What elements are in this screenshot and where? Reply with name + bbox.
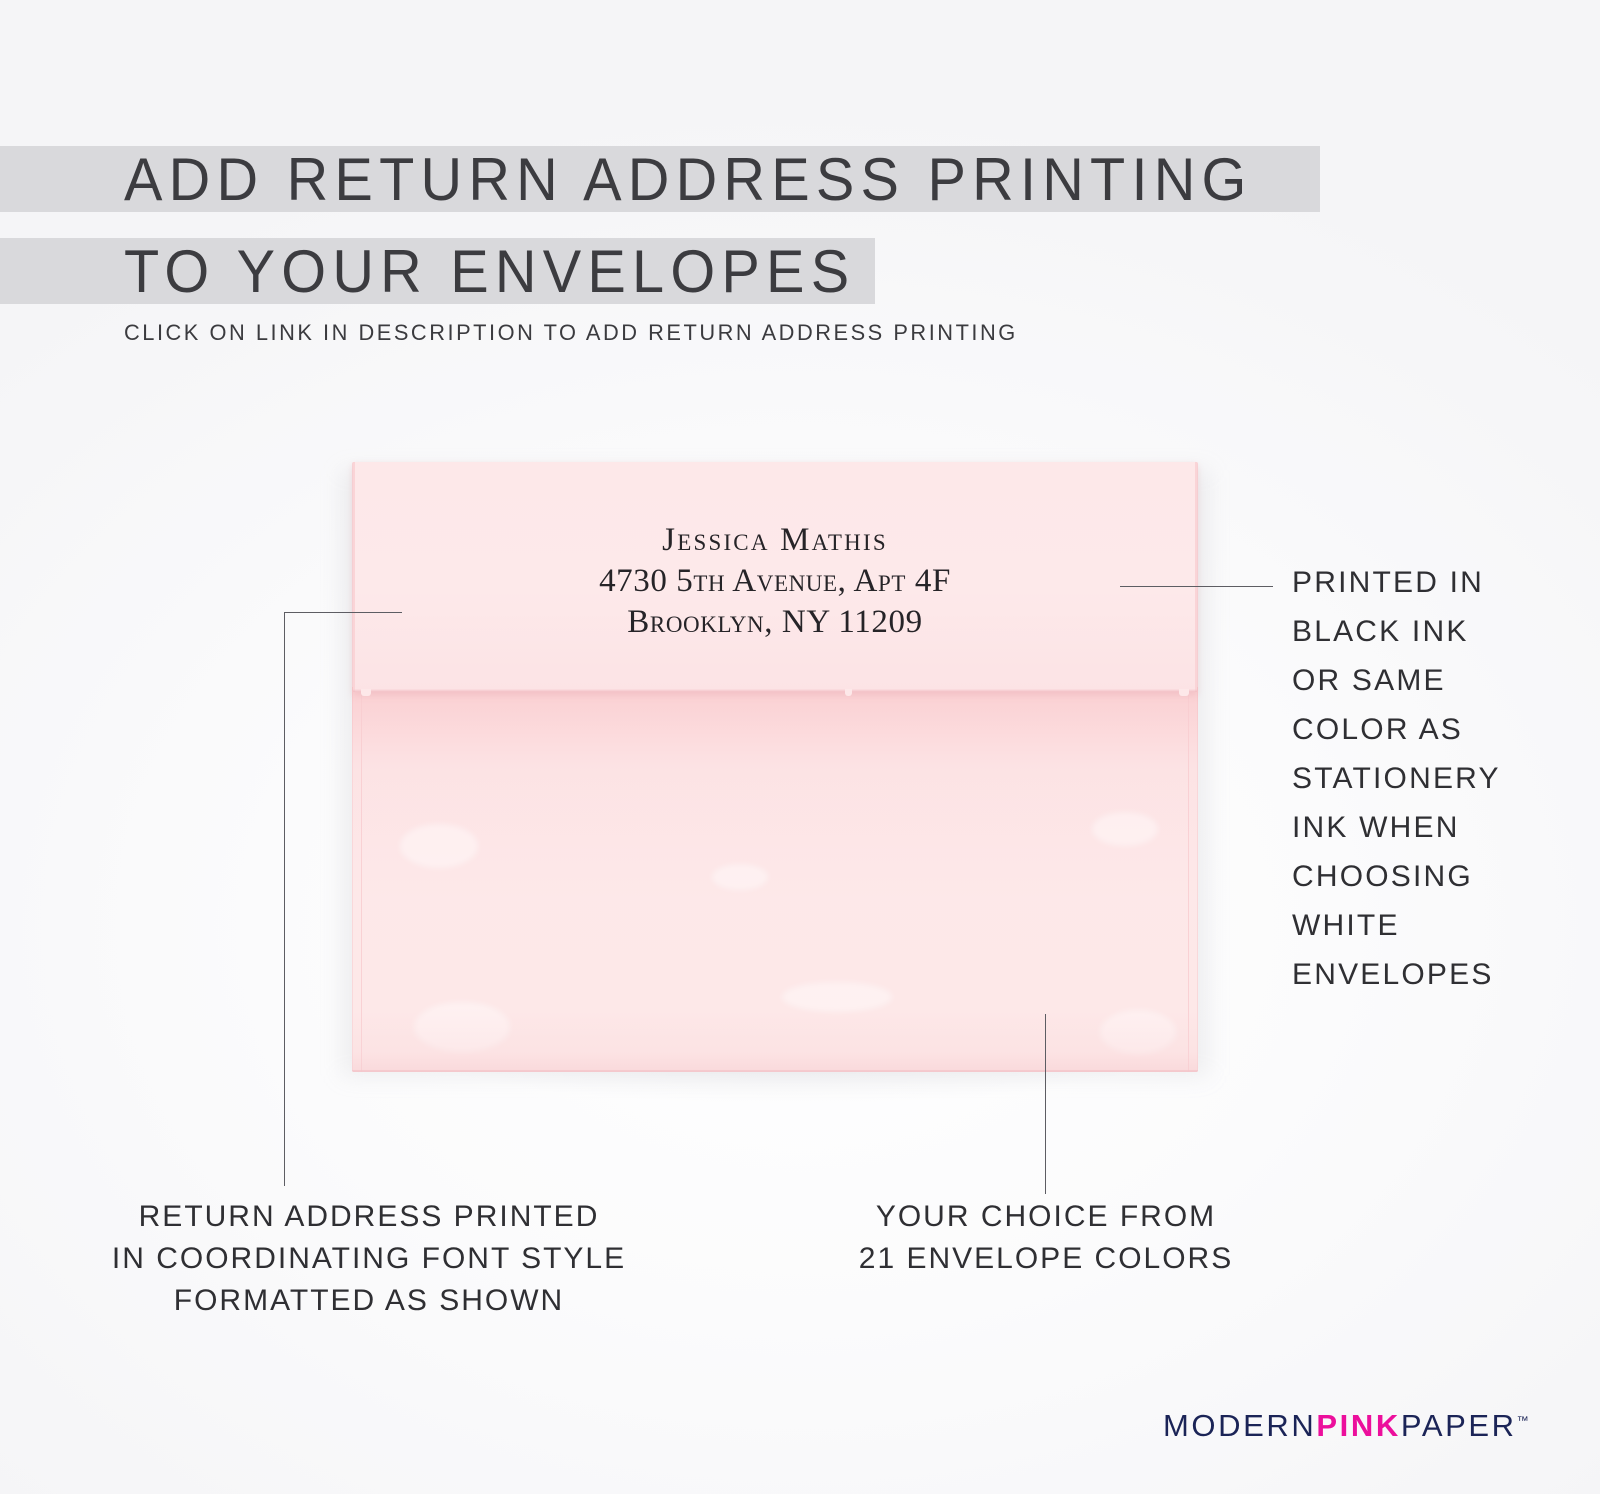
page-heading: ADD RETURN ADDRESS PRINTING TO YOUR ENVE… [0,140,1600,314]
callout-line: CHOOSING [1292,852,1582,901]
flap-notch-left [361,689,371,696]
envelope-flap: Jessica Mathis 4730 5th Avenue, Apt 4F B… [353,462,1197,692]
logo-text-paper: PAPER [1401,1408,1517,1443]
envelope-bottom-fold [352,1008,1198,1072]
return-address-city: Brooklyn, NY 11209 [353,602,1197,643]
callout-line: RETURN ADDRESS PRINTED [96,1196,642,1238]
paper-texture-mark [1092,812,1158,846]
page-subtitle: CLICK ON LINK IN DESCRIPTION TO ADD RETU… [124,320,1018,346]
envelope-bottom-edge [352,1070,1198,1072]
envelope-cast-shadow [300,1060,1280,1180]
heading-line-2: TO YOUR ENVELOPES [124,232,855,312]
flap-fold-line [353,689,1197,692]
printed-return-address: Jessica Mathis 4730 5th Avenue, Apt 4F B… [353,520,1197,643]
paper-texture-mark [712,864,768,890]
leader-line-left-vertical [284,612,285,1186]
callout-printed-ink: PRINTED IN BLACK INK OR SAME COLOR AS ST… [1292,558,1582,999]
trademark-symbol: ™ [1517,1414,1529,1428]
callout-line: STATIONERY [1292,754,1582,803]
callout-line: COLOR AS [1292,705,1582,754]
return-address-street: 4730 5th Avenue, Apt 4F [353,561,1197,602]
callout-line: BLACK INK [1292,607,1582,656]
heading-line-1-row: ADD RETURN ADDRESS PRINTING [0,140,1600,222]
envelope-body-sheen [352,687,1198,897]
return-address-name: Jessica Mathis [353,520,1197,561]
callout-line: IN COORDINATING FONT STYLE [96,1238,642,1280]
callout-line: YOUR CHOICE FROM [855,1196,1237,1238]
callout-line: OR SAME [1292,656,1582,705]
product-infographic: ADD RETURN ADDRESS PRINTING TO YOUR ENVE… [0,0,1600,1494]
callout-line: ENVELOPES [1292,950,1582,999]
paper-texture-mark [400,824,478,868]
heading-line-2-row: TO YOUR ENVELOPES [0,232,1600,314]
callout-return-address-style: RETURN ADDRESS PRINTED IN COORDINATING F… [96,1196,642,1322]
leader-line-left-horizontal [284,612,402,613]
callout-line: WHITE [1292,901,1582,950]
callout-line: 21 ENVELOPE COLORS [855,1238,1237,1280]
callout-envelope-colors: YOUR CHOICE FROM 21 ENVELOPE COLORS [855,1196,1237,1280]
logo-text-modern: MODERN [1163,1408,1316,1443]
envelope-mockup: Jessica Mathis 4730 5th Avenue, Apt 4F B… [352,462,1198,1072]
logo-text-pink: PINK [1316,1408,1400,1443]
flap-notch-center [845,689,852,696]
brand-logo[interactable]: MODERNPINKPAPER™ [1163,1408,1529,1444]
heading-line-1: ADD RETURN ADDRESS PRINTING [124,140,1253,220]
callout-line: PRINTED IN [1292,558,1582,607]
callout-line: INK WHEN [1292,803,1582,852]
leader-line-right [1120,586,1273,587]
callout-line: FORMATTED AS SHOWN [96,1280,642,1322]
leader-line-center [1045,1014,1046,1194]
flap-notch-right [1179,689,1189,696]
